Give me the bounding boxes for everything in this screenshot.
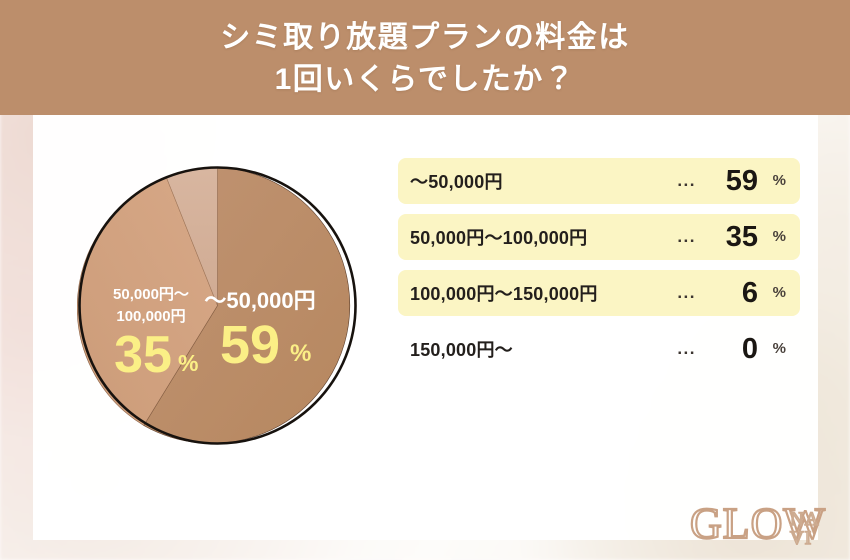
legend-unit: % [758, 228, 786, 247]
legend-row[interactable]: 〜50,000円 ... 59 % [398, 158, 800, 204]
legend-dots: ... [503, 171, 712, 191]
legend-row[interactable]: 50,000円〜100,000円 ... 35 % [398, 214, 800, 260]
brand-logo: GLOW NA VI [690, 498, 830, 550]
legend-value: 6 [712, 279, 758, 308]
brand-logo-sub-top-text: NA [790, 509, 819, 530]
page-title-line-1: シミ取り放題プランの料金は [220, 17, 630, 58]
brand-logo-svg: GLOW NA VI [690, 498, 830, 550]
legend-value: 0 [712, 335, 758, 364]
legend-label: 〜50,000円 [410, 168, 503, 194]
legend-value: 59 [712, 167, 758, 196]
legend-label: 100,000円〜150,000円 [410, 280, 598, 306]
legend-value: 35 [712, 223, 758, 252]
legend-dots: ... [598, 283, 712, 303]
pie-chart-svg: 〜50,000円 59 % 50,000円〜 100,000円 35 % [77, 165, 358, 446]
legend-dots: ... [513, 339, 712, 359]
legend-label: 150,000円〜 [410, 336, 513, 362]
pie-chart: 〜50,000円 59 % 50,000円〜 100,000円 35 % [77, 165, 358, 446]
legend-list: 〜50,000円 ... 59 % 50,000円〜100,000円 ... 3… [398, 158, 800, 382]
page-title-line-2: 1回いくらでしたか？ [275, 59, 576, 100]
legend-row[interactable]: 100,000円〜150,000円 ... 6 % [398, 270, 800, 316]
infographic-canvas: シミ取り放題プランの料金は 1回いくらでしたか？ [0, 0, 850, 560]
legend-label: 50,000円〜100,000円 [410, 224, 587, 250]
header-band: シミ取り放題プランの料金は 1回いくらでしたか？ [0, 0, 850, 115]
brand-logo-sub-bottom-text: VI [790, 528, 812, 549]
legend-unit: % [758, 284, 786, 303]
legend-dots: ... [587, 227, 712, 247]
legend-row[interactable]: 150,000円〜 ... 0 % [398, 326, 800, 372]
legend-unit: % [758, 340, 786, 359]
legend-unit: % [758, 172, 786, 191]
